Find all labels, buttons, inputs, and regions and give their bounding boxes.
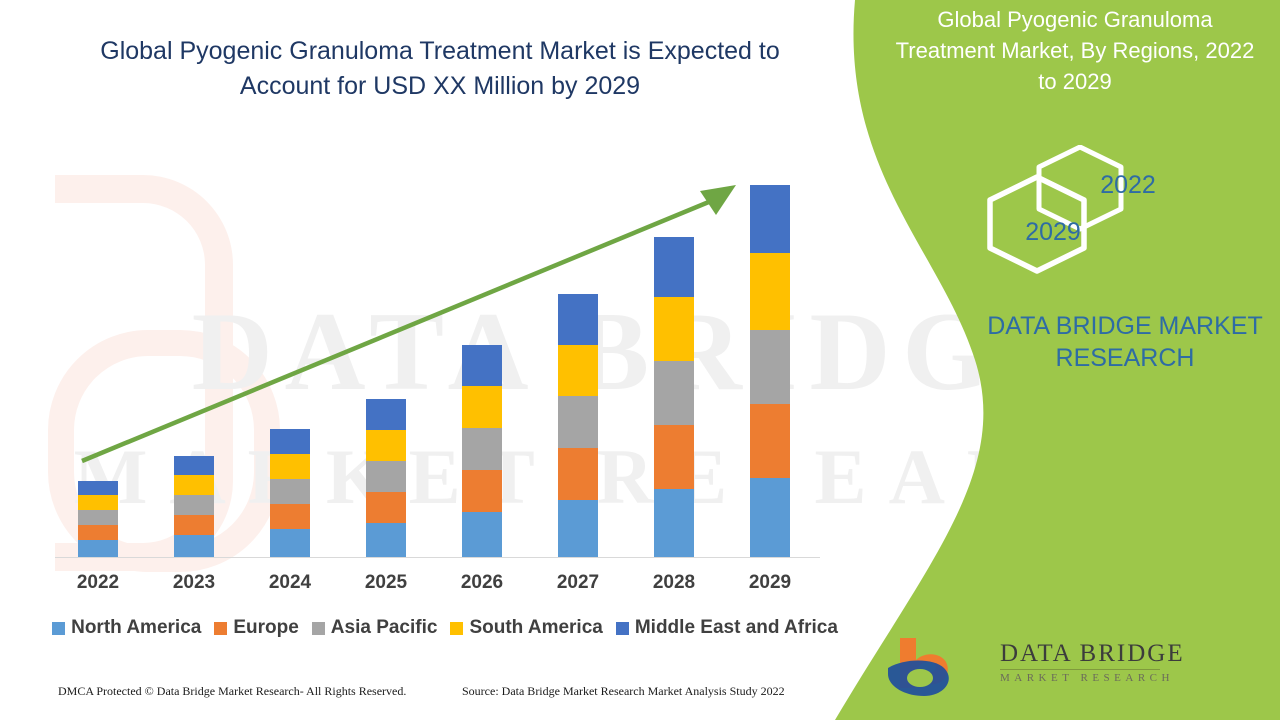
bar-segment-2022-middle-east-and-africa <box>78 481 118 495</box>
bar-segment-2023-europe <box>174 515 214 535</box>
x-axis-label-2027: 2027 <box>538 572 618 594</box>
legend-swatch-icon <box>616 622 629 635</box>
bar-segment-2024-middle-east-and-africa <box>270 429 310 454</box>
logo-name: DATA BRIDGE <box>1000 640 1185 668</box>
bar-segment-2027-north-america <box>558 500 598 557</box>
bar-2026[interactable] <box>462 345 502 557</box>
bar-segment-2025-europe <box>366 492 406 523</box>
bar-segment-2023-south-america <box>174 475 214 495</box>
bar-segment-2022-asia-pacific <box>78 510 118 525</box>
bar-2025[interactable] <box>366 399 406 557</box>
bar-2028[interactable] <box>654 237 694 557</box>
legend-swatch-icon <box>312 622 325 635</box>
legend-label: South America <box>469 617 602 639</box>
bar-segment-2028-south-america <box>654 297 694 361</box>
bar-segment-2026-north-america <box>462 512 502 557</box>
bar-segment-2025-middle-east-and-africa <box>366 399 406 430</box>
bar-segment-2025-south-america <box>366 430 406 461</box>
x-axis-label-2028: 2028 <box>634 572 714 594</box>
x-axis-line <box>55 557 820 558</box>
x-axis-tick-labels: 20222023202420252026202720282029 <box>55 572 825 600</box>
legend-label: North America <box>71 617 201 639</box>
x-axis-label-2026: 2026 <box>442 572 522 594</box>
legend-label: Asia Pacific <box>331 617 438 639</box>
bar-2027[interactable] <box>558 294 598 557</box>
legend-swatch-icon <box>450 622 463 635</box>
legend-swatch-icon <box>214 622 227 635</box>
bar-segment-2024-europe <box>270 504 310 529</box>
footer-copyright: DMCA Protected © Data Bridge Market Rese… <box>58 684 406 699</box>
bar-2022[interactable] <box>78 481 118 557</box>
bar-segment-2027-asia-pacific <box>558 396 598 448</box>
page-title: Global Pyogenic Granuloma Treatment Mark… <box>60 34 820 104</box>
bar-segment-2024-south-america <box>270 454 310 479</box>
legend-item-south-america[interactable]: South America <box>450 617 602 639</box>
bar-segment-2023-middle-east-and-africa <box>174 456 214 475</box>
bar-segment-2026-middle-east-and-africa <box>462 345 502 386</box>
bar-segment-2025-asia-pacific <box>366 461 406 492</box>
infographic-slide: DATA BRIDGE MARKET RESEARCH Global Pyoge… <box>0 0 1280 720</box>
bar-segment-2028-middle-east-and-africa <box>654 237 694 297</box>
bar-segment-2028-north-america <box>654 489 694 557</box>
logo-tagline: MARKET RESEARCH <box>1000 672 1185 685</box>
stacked-bar-chart <box>55 150 825 557</box>
bar-segment-2026-europe <box>462 470 502 512</box>
legend-item-europe[interactable]: Europe <box>214 617 298 639</box>
hexagon-badges <box>985 145 1185 275</box>
bar-segment-2028-europe <box>654 425 694 489</box>
hexagon-2029-label: 2029 <box>1022 218 1084 247</box>
logo-wordmark: DATA BRIDGE MARKET RESEARCH <box>1000 640 1185 685</box>
bar-segment-2022-north-america <box>78 540 118 557</box>
bar-segment-2024-north-america <box>270 529 310 557</box>
x-axis-label-2023: 2023 <box>154 572 234 594</box>
bar-segment-2026-asia-pacific <box>462 428 502 470</box>
logo-divider <box>1000 669 1160 670</box>
panel-title: Global Pyogenic Granuloma Treatment Mark… <box>895 4 1255 97</box>
bar-segment-2022-europe <box>78 525 118 540</box>
hexagon-2022-label: 2022 <box>1098 171 1158 200</box>
x-axis-label-2024: 2024 <box>250 572 330 594</box>
legend-label: Europe <box>233 617 298 639</box>
bar-segment-2026-south-america <box>462 386 502 428</box>
chart-legend: North AmericaEuropeAsia PacificSouth Ame… <box>55 615 835 641</box>
bar-segment-2027-europe <box>558 448 598 500</box>
bar-segment-2023-north-america <box>174 535 214 557</box>
bar-segment-2028-asia-pacific <box>654 361 694 425</box>
bar-2023[interactable] <box>174 456 214 557</box>
bar-segment-2027-south-america <box>558 345 598 396</box>
panel-brand-text: DATA BRIDGE MARKET RESEARCH <box>975 310 1275 374</box>
legend-item-north-america[interactable]: North America <box>52 617 201 639</box>
bar-2024[interactable] <box>270 429 310 557</box>
footer-source: Source: Data Bridge Market Research Mark… <box>462 684 785 699</box>
bar-segment-2023-asia-pacific <box>174 495 214 515</box>
legend-swatch-icon <box>52 622 65 635</box>
bar-segment-2022-south-america <box>78 495 118 510</box>
x-axis-label-2025: 2025 <box>346 572 426 594</box>
bar-segment-2027-middle-east-and-africa <box>558 294 598 345</box>
bar-segment-2024-asia-pacific <box>270 479 310 504</box>
x-axis-label-2022: 2022 <box>58 572 138 594</box>
bar-segment-2025-north-america <box>366 523 406 557</box>
legend-item-asia-pacific[interactable]: Asia Pacific <box>312 617 438 639</box>
